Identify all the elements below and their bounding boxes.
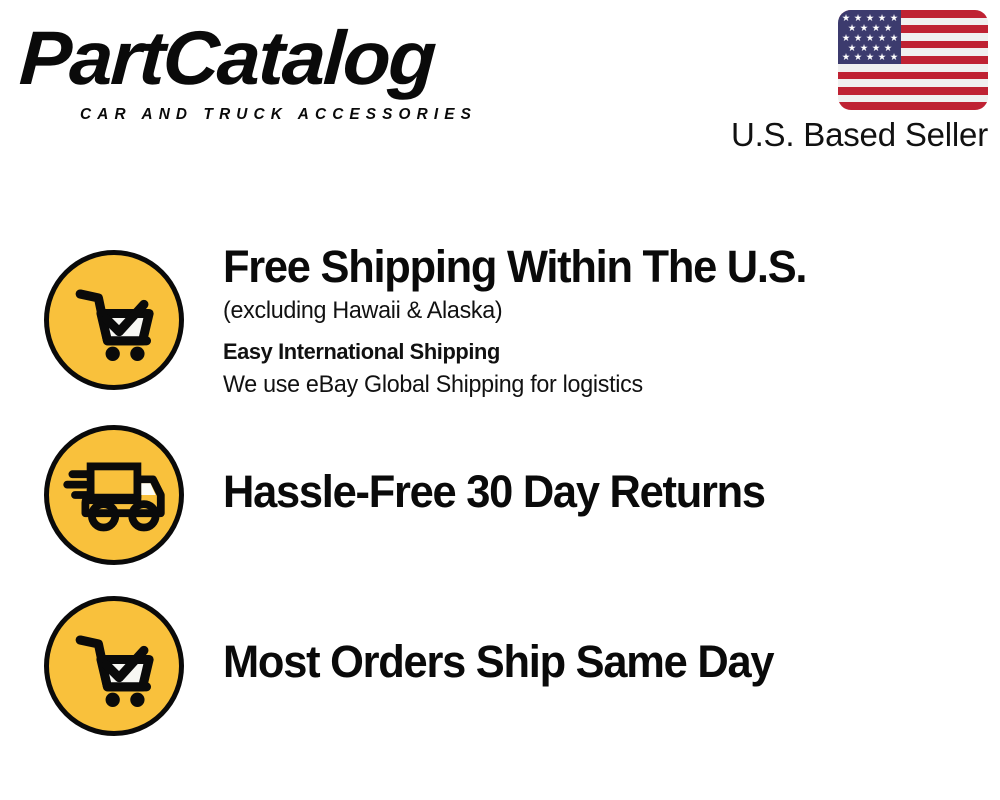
feature-headline: Most Orders Ship Same Day (223, 635, 956, 689)
feature-subline-logistics: We use eBay Global Shipping for logistic… (223, 368, 960, 402)
us-flag-icon: ★ ★ ★ ★ ★ ★ ★ ★ ★ ★ ★ ★ ★ ★ ★ ★ ★ ★ ★ ★ … (838, 10, 988, 110)
feature-subline-international: Easy International Shipping (223, 335, 960, 368)
shopping-cart-check-icon (44, 596, 184, 736)
flag-stripe (838, 87, 988, 95)
flag-stripe (838, 95, 988, 103)
feature-row: Most Orders Ship Same Day (0, 588, 1000, 748)
logo-wordmark: PartCatalog (18, 18, 437, 100)
flag-canton: ★ ★ ★ ★ ★ ★ ★ ★ ★ ★ ★ ★ ★ ★ ★ ★ ★ ★ ★ ★ … (838, 10, 901, 64)
flag-stripe (838, 72, 988, 80)
feature-row: Hassle-Free 30 Day Returns (0, 418, 1000, 573)
brand-logo[interactable]: PartCatalog CAR AND TRUCK ACCESSORIES (22, 18, 522, 123)
feature-row: Free Shipping Within The U.S. (excluding… (0, 240, 1000, 410)
us-based-seller-label: U.S. Based Seller (700, 116, 988, 154)
shopping-cart-check-icon (44, 250, 184, 390)
feature-headline: Hassle-Free 30 Day Returns (223, 465, 956, 519)
delivery-truck-icon (44, 425, 184, 565)
feature-text: Most Orders Ship Same Day (223, 635, 983, 689)
flag-stripe (838, 102, 988, 110)
feature-text: Hassle-Free 30 Day Returns (223, 465, 983, 519)
feature-headline: Free Shipping Within The U.S. (223, 240, 956, 294)
logo-tagline: CAR AND TRUCK ACCESSORIES (80, 106, 477, 124)
flag-stripe (838, 64, 988, 72)
page-header: PartCatalog CAR AND TRUCK ACCESSORIES ★ … (0, 0, 1000, 170)
feature-text: Free Shipping Within The U.S. (excluding… (223, 240, 983, 402)
feature-subline-exclusions: (excluding Hawaii & Alaska) (223, 294, 960, 328)
flag-stripe (838, 79, 988, 87)
